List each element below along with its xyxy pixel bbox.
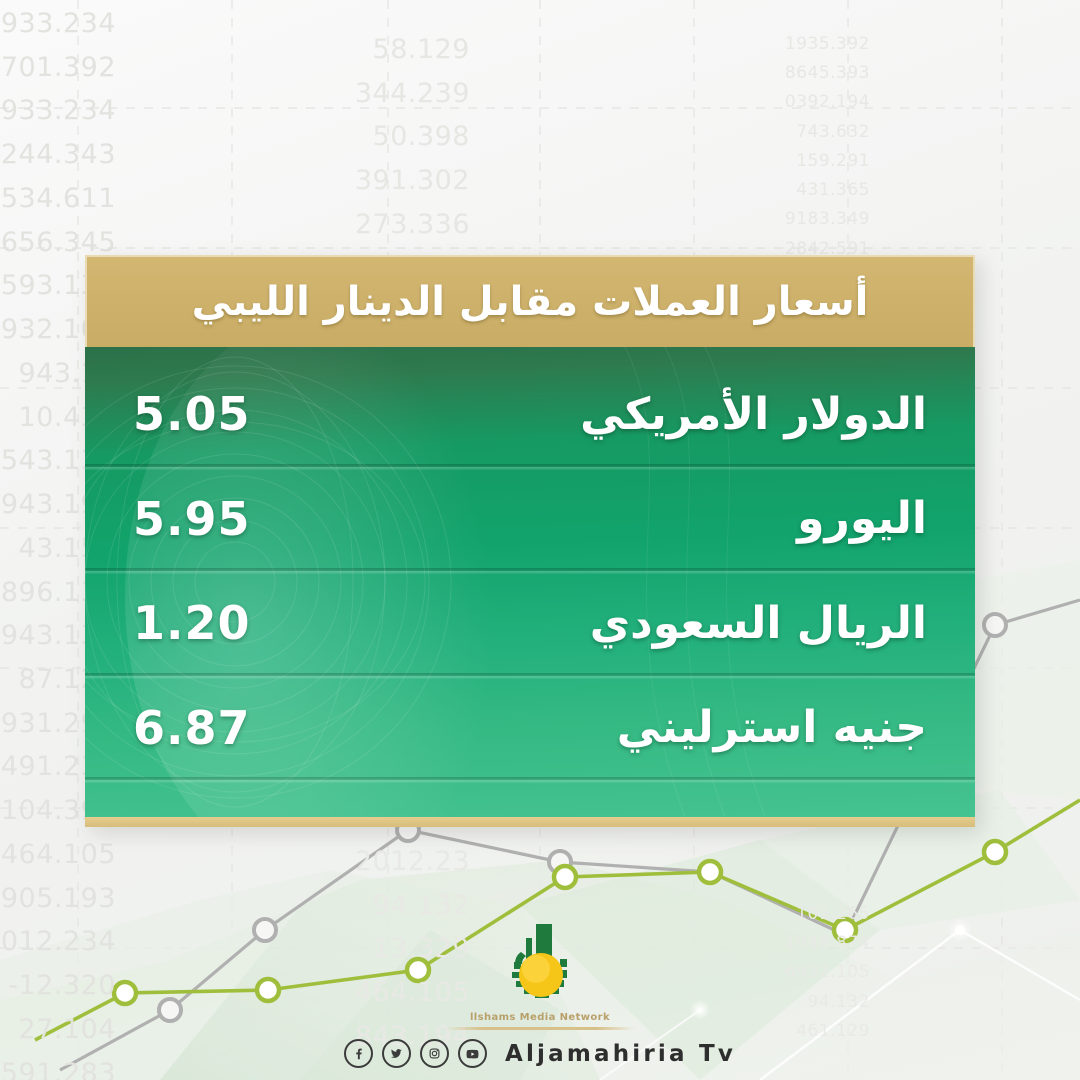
table-row[interactable]: 1.20 الريال السعودي [85,574,975,673]
currency-label: اليورو [797,493,927,544]
card-footer-bar [85,817,975,827]
rate-value: 6.87 [133,701,251,755]
brand-name: Aljamahiria Tv [505,1041,736,1067]
brand-divider [445,1027,635,1030]
currency-rates-card: أسعار العملات مقابل الدينار الليبي [85,255,975,827]
table-row[interactable]: 5.95 اليورو [85,470,975,569]
brand-footer: llshams Media Network Aljamahi [0,918,1080,1068]
youtube-icon[interactable] [458,1039,487,1068]
table-row[interactable]: 6.87 جنيه استرليني [85,679,975,778]
facebook-icon[interactable] [344,1039,373,1068]
card-body: 5.05 الدولار الأمريكي 5.95 اليورو 1.20 ا… [85,347,975,817]
aljamahiria-logo-icon [492,918,588,1014]
currency-label: جنيه استرليني [617,702,927,753]
rate-value: 1.20 [133,596,251,650]
table-row[interactable]: 5.05 الدولار الأمريكي [85,365,975,464]
currency-label: الريال السعودي [590,598,927,649]
currency-rows-list: 5.05 الدولار الأمريكي 5.95 اليورو 1.20 ا… [85,347,975,817]
page-title: أسعار العملات مقابل الدينار الليبي [192,279,869,325]
rate-value: 5.05 [133,387,251,441]
card-header: أسعار العملات مقابل الدينار الليبي [85,255,975,347]
twitter-icon[interactable] [382,1039,411,1068]
social-links-row: Aljamahiria Tv [344,1039,736,1068]
currency-label: الدولار الأمريكي [580,389,927,440]
instagram-icon[interactable] [420,1039,449,1068]
background-numbers-center-top: 58.129344.23950.398391.302273.33634.611 [330,28,470,290]
rate-value: 5.95 [133,492,251,546]
